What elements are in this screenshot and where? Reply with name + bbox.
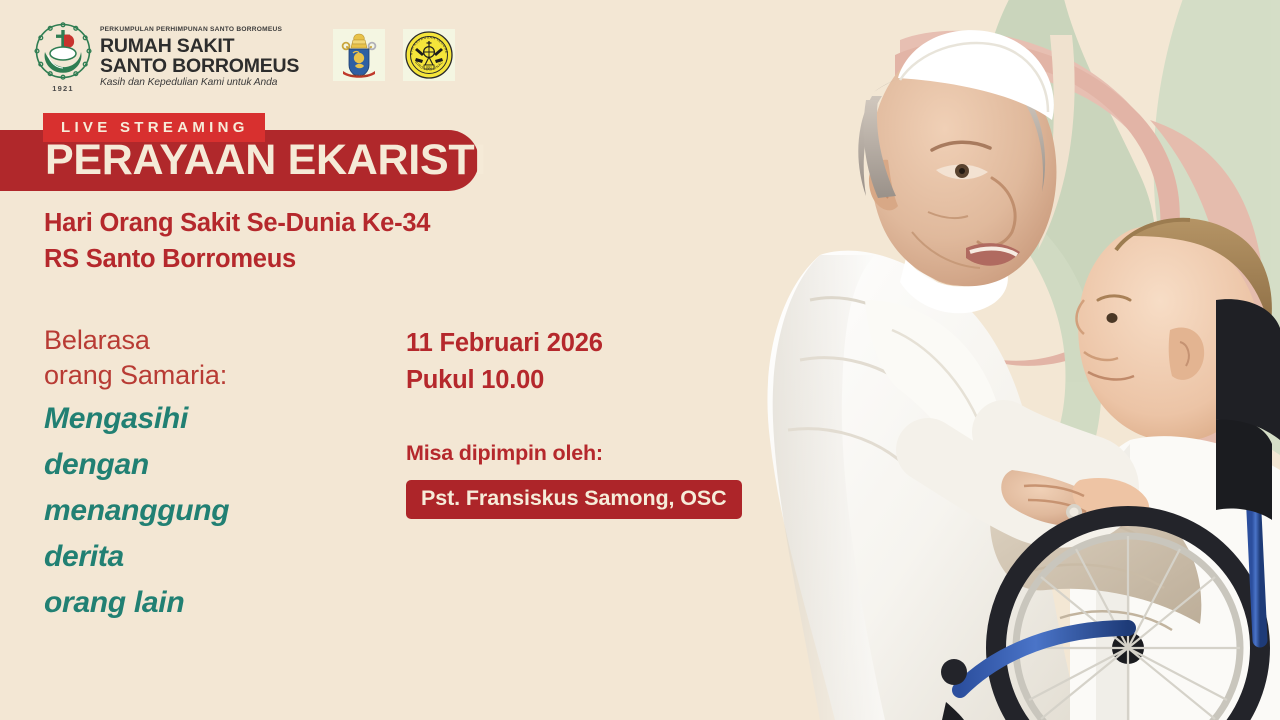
event-date: 11 Februari 2026	[406, 325, 742, 362]
theme-main-line3: menanggung	[44, 491, 229, 531]
svg-text:MISERANDO: MISERANDO	[350, 73, 369, 77]
theme-lead-line2: orang Samaria:	[44, 358, 229, 393]
hospital-name-line1: RUMAH SAKIT	[100, 36, 299, 56]
header-logo-bar: 1921 PERKUMPULAN PERHIMPUNAN SANTO BORRO…	[34, 22, 455, 88]
hospital-logo: 1921 PERKUMPULAN PERHIMPUNAN SANTO BORRO…	[34, 22, 299, 88]
event-title: PERAYAAN EKARISTI	[45, 139, 486, 182]
celebrant-name-badge: Pst. Fransiskus Samong, OSC	[406, 480, 742, 519]
theme-lead-line1: Belarasa	[44, 323, 229, 358]
theme-block: Belarasa orang Samaria: Mengasihi dengan…	[44, 323, 229, 623]
theme-main-line1: Mengasihi	[44, 399, 229, 439]
subtitle-line1: Hari Orang Sakit Se-Dunia Ke-34	[44, 205, 430, 241]
live-streaming-badge: LIVE STREAMING	[43, 113, 265, 142]
logo-year: 1921	[34, 84, 92, 93]
celebrant-label: Misa dipimpin oleh:	[406, 441, 742, 466]
event-info-block: 11 Februari 2026 Pukul 10.00 Misa dipimp…	[406, 325, 742, 519]
event-time: Pukul 10.00	[406, 362, 742, 399]
theme-main-line5: orang lain	[44, 583, 229, 623]
svg-text:KKI: KKI	[427, 65, 432, 69]
borromeus-hospital-logo-icon: 1921	[34, 22, 92, 84]
theme-main-line2: dengan	[44, 445, 229, 485]
vatican-coat-of-arms-icon: MISERANDO	[333, 29, 385, 81]
hospital-logo-text: PERKUMPULAN PERHIMPUNAN SANTO BORROMEUS …	[100, 22, 299, 88]
theme-main-line4: derita	[44, 537, 229, 577]
karya-kepausan-indonesia-seal-icon: KARYA KEPAUSAN INDONESIA BIRO NASIONAL	[403, 29, 455, 81]
pope-with-child-in-wheelchair-photo	[660, 0, 1280, 720]
hospital-name-line2: SANTO BORROMEUS	[100, 56, 299, 76]
event-subtitle: Hari Orang Sakit Se-Dunia Ke-34 RS Santo…	[44, 205, 430, 277]
hospital-supertitle: PERKUMPULAN PERHIMPUNAN SANTO BORROMEUS	[100, 27, 299, 34]
poster-canvas: 1921 PERKUMPULAN PERHIMPUNAN SANTO BORRO…	[0, 0, 1280, 720]
subtitle-line2: RS Santo Borromeus	[44, 241, 430, 277]
hospital-tagline: Kasih dan Kepedulian Kami untuk Anda	[100, 77, 299, 88]
